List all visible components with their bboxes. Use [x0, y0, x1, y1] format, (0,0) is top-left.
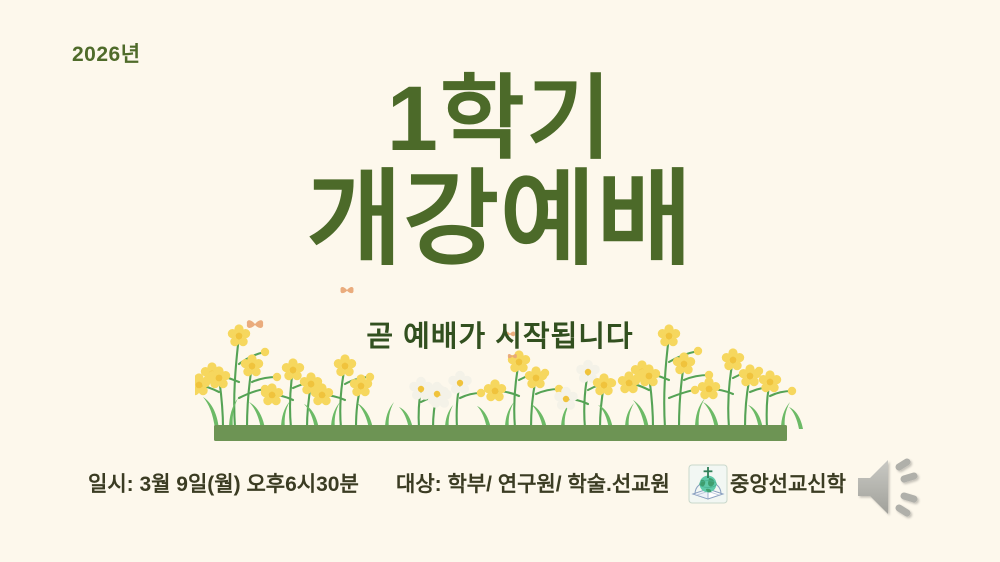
organization-branding: 중앙선교신학 [688, 462, 846, 506]
presentation-slide: 2026년 1학기 개강예배 곧 예배가 시작됩니다 [0, 0, 1000, 562]
ground-bar [214, 425, 787, 441]
event-date-text: 일시: 3월 9일(월) 오후6시30분 [88, 470, 359, 500]
subtitle-text: 곧 예배가 시작됩니다 [0, 313, 1000, 355]
daisy-meadow-illustration [195, 278, 805, 446]
title-line-secondary: 개강예배 [0, 170, 1000, 272]
title-line-primary: 1학기 [0, 74, 1000, 164]
title-block: 1학기 개강예배 [0, 74, 1000, 272]
footer-bar: 일시: 3월 9일(월) 오후6시30분 대상: 학부/ 연구원/ 학술.선교원 [0, 466, 1000, 512]
speaker-volume-icon[interactable] [852, 452, 948, 522]
globe-cross-book-logo-icon [688, 464, 728, 504]
event-audience-text: 대상: 학부/ 연구원/ 학술.선교원 [396, 470, 670, 500]
year-label: 2026년 [72, 44, 141, 65]
organization-name: 중앙선교신학 [730, 474, 846, 495]
